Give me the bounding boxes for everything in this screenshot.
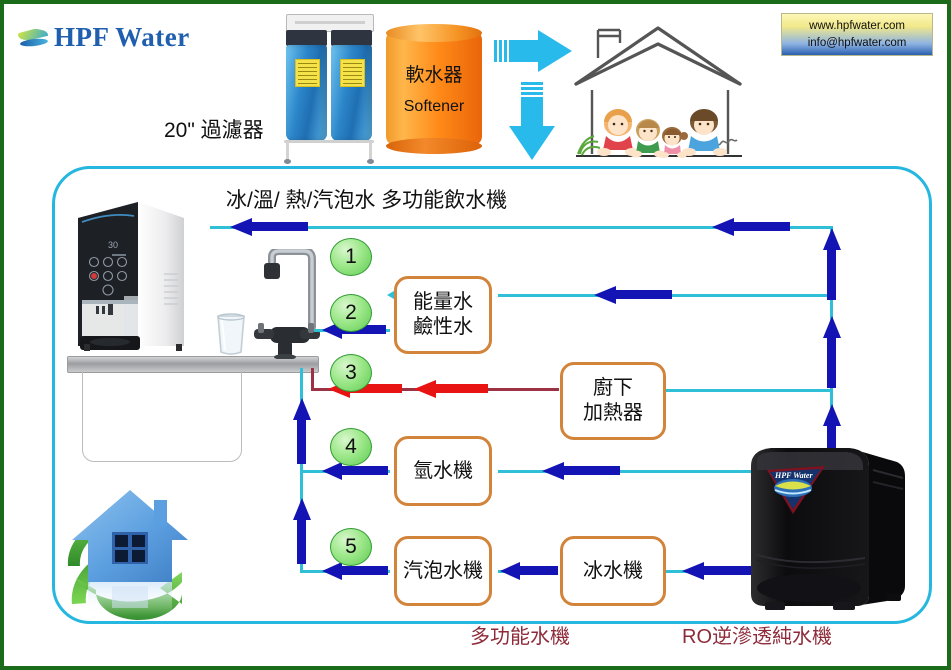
box-heater-line1: 廚下 [593,376,633,401]
box-under-sink-heater[interactable]: 廚下 加熱器 [560,362,666,440]
pipe-hot-water-riser [311,368,314,390]
svg-text:30: 30 [108,240,118,250]
filter-housing-icon [280,14,378,164]
box-energy-water[interactable]: 能量水 鹼性水 [394,276,492,354]
page-title: 冰/溫/ 熱/汽泡水 多功能飲水機 [226,184,507,214]
arrow-left-2b-icon [592,285,676,305]
website-text: www.hpfwater.com [788,18,926,35]
diagram-canvas: HPF Water www.hpfwater.com info@hpfwater… [0,0,951,670]
ro-purifier-unit-icon: HPF Water [737,436,917,614]
box-hydrogen-water[interactable]: 氫水機 [394,436,492,506]
arrow-left-1b-icon [710,217,794,237]
step-3-label: 3 [345,361,357,385]
brand-logo: HPF Water [18,22,190,53]
arrow-up-r1-icon [822,226,842,304]
step-circle-5[interactable]: 5 [330,528,372,566]
arrow-left-5b-icon [498,561,562,581]
box-ice-line1: 冰水機 [583,559,643,584]
step-circle-4[interactable]: 4 [330,428,372,466]
sink-basin [82,371,242,462]
countertop-water-dispenser-icon: 30 [68,196,192,364]
softener-label-en: Softener [386,98,482,116]
step-1-label: 1 [345,245,357,269]
drinking-glass-icon [214,312,248,356]
step-circle-1[interactable]: 1 [330,238,372,276]
caption-multifunction: 多功能水機 [470,620,570,649]
wave-swoosh-logo-icon [18,26,52,50]
step-5-label: 5 [345,535,357,559]
step-4-label: 4 [345,435,357,459]
softener-label-cn: 軟水器 [386,60,482,87]
step-circle-2[interactable]: 2 [330,294,372,332]
green-recycle-house-icon [42,474,212,624]
arrow-left-4b-icon [540,461,624,481]
filter-label: 20" 過濾器 [164,114,264,144]
arrow-left-hot-b-icon [412,379,492,399]
softener-cylinder: 軟水器 Softener [386,24,482,152]
box-sparkling-line1: 汽泡水機 [403,559,483,584]
arrow-up-l1-icon [292,396,312,468]
email-text: info@hpfwater.com [788,35,926,52]
brand-name: HPF Water [54,22,190,53]
caption-ro: RO逆滲透純水機 [682,620,832,649]
arrow-up-l2-icon [292,496,312,568]
box-sparkling-water[interactable]: 汽泡水機 [394,536,492,606]
step-circle-3[interactable]: 3 [330,354,372,392]
step-2-label: 2 [345,301,357,325]
block-arrow-down-icon [509,82,557,162]
arrow-left-1a-icon [228,217,312,237]
box-energy-line2: 鹼性水 [413,315,473,340]
pipe-heater-feed [666,389,832,392]
box-hydrogen-line1: 氫水機 [413,459,473,484]
box-energy-line1: 能量水 [413,290,473,315]
box-ice-water[interactable]: 冰水機 [560,536,666,606]
contact-box: www.hpfwater.com info@hpfwater.com [781,13,933,56]
box-heater-line2: 加熱器 [583,401,643,426]
svg-text:HPF Water: HPF Water [774,471,813,480]
three-way-faucet-icon [242,249,322,359]
arrow-up-r2-icon [822,314,842,392]
house-outline-with-family-icon [562,18,758,166]
